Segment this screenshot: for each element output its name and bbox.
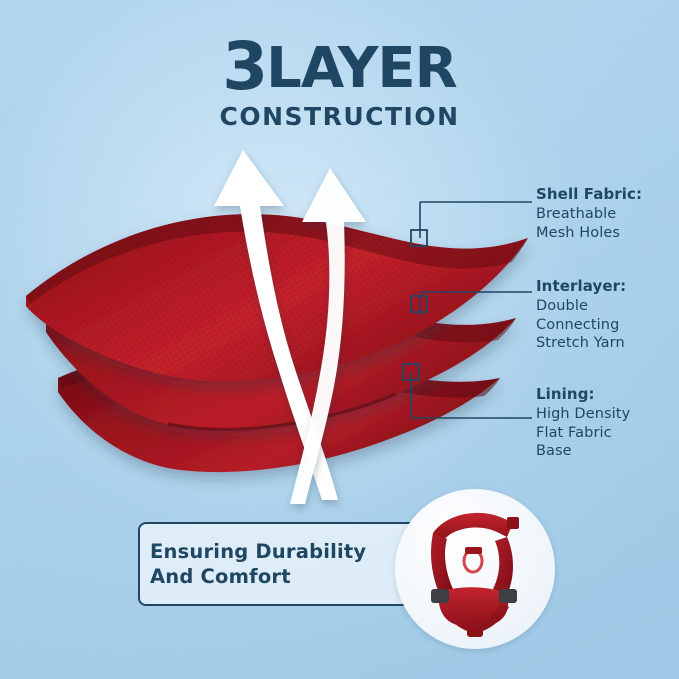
product-image-circle <box>395 489 555 649</box>
callout-leader-shell <box>411 202 532 246</box>
bottom-banner-text: Ensuring Durability And Comfort <box>150 540 400 590</box>
infographic-canvas: 3LAYER CONSTRUCTION <box>0 0 679 679</box>
callout-lining: Lining: High Density Flat Fabric Base <box>536 385 630 461</box>
dog-harness-illustration <box>395 489 555 649</box>
callout-interlayer-body: Double Connecting Stretch Yarn <box>536 297 626 353</box>
callout-lining-heading: Lining: <box>536 385 630 404</box>
callout-shell-fabric: Shell Fabric: Breathable Mesh Holes <box>536 185 642 242</box>
callout-lining-body: High Density Flat Fabric Base <box>536 405 630 461</box>
callout-shell-fabric-body: Breathable Mesh Holes <box>536 205 642 242</box>
callout-shell-fabric-heading: Shell Fabric: <box>536 185 642 204</box>
callout-interlayer-heading: Interlayer: <box>536 277 626 296</box>
callout-interlayer: Interlayer: Double Connecting Stretch Ya… <box>536 277 626 353</box>
